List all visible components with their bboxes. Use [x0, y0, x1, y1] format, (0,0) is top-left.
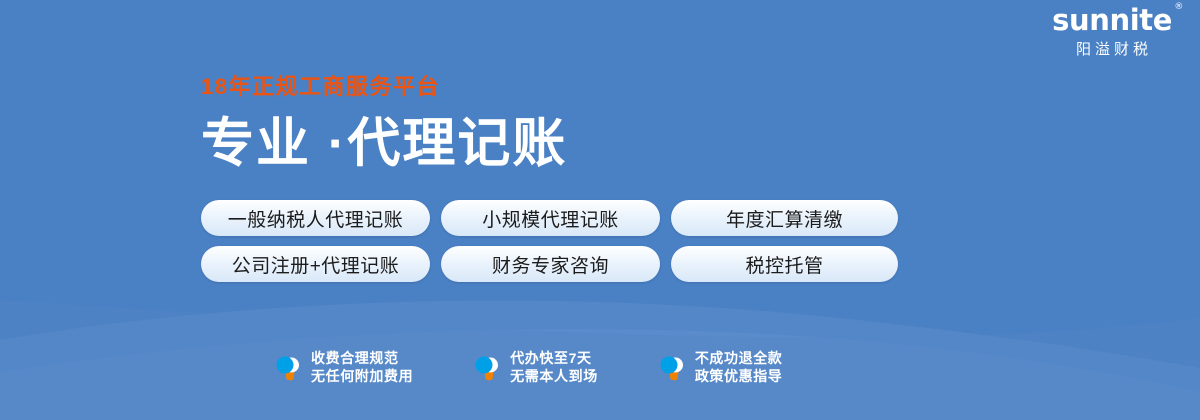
feature-line-2: 无任何附加费用: [311, 368, 413, 386]
feature-item: 代办快至7天 无需本人到场: [473, 350, 598, 386]
feature-line-1: 收费合理规范: [311, 350, 413, 368]
brand-logo: sunnite ® 阳溢财税: [1052, 6, 1172, 57]
service-tag[interactable]: 税控托管: [671, 246, 898, 282]
hero-headline: 18年正规工商服务平台 专业 ·代理记账: [201, 76, 567, 170]
logo-wordmark: sunnite ®: [1052, 6, 1172, 35]
feature-line-1: 代办快至7天: [510, 350, 598, 368]
service-tag-list: 一般纳税人代理记账 小规模代理记账 年度汇算清缴 公司注册+代理记账 财务专家咨…: [201, 200, 898, 282]
service-tag[interactable]: 财务专家咨询: [441, 246, 660, 282]
page-title: 专业 ·代理记账: [201, 117, 567, 170]
service-tag[interactable]: 年度汇算清缴: [671, 200, 898, 236]
registered-trademark-icon: ®: [1174, 3, 1183, 12]
feature-line-2: 政策优惠指导: [695, 368, 783, 386]
service-tag[interactable]: 一般纳税人代理记账: [201, 200, 430, 236]
promo-banner: sunnite ® 阳溢财税 18年正规工商服务平台 专业 ·代理记账 一般纳税…: [0, 0, 1200, 420]
circle-duo-icon: [473, 353, 501, 383]
service-tag[interactable]: 小规模代理记账: [441, 200, 660, 236]
feature-strip: 收费合理规范 无任何附加费用 代办快至7天 无需本人到场 不成功退全款: [274, 350, 782, 386]
feature-line-2: 无需本人到场: [510, 368, 598, 386]
feature-item: 收费合理规范 无任何附加费用: [274, 350, 413, 386]
hero-eyebrow: 18年正规工商服务平台: [201, 76, 567, 98]
feature-line-1: 不成功退全款: [695, 350, 783, 368]
feature-text: 收费合理规范 无任何附加费用: [311, 350, 413, 386]
feature-text: 不成功退全款 政策优惠指导: [695, 350, 783, 386]
feature-item: 不成功退全款 政策优惠指导: [658, 350, 783, 386]
circle-duo-icon: [274, 353, 302, 383]
feature-text: 代办快至7天 无需本人到场: [510, 350, 598, 386]
service-tag[interactable]: 公司注册+代理记账: [201, 246, 430, 282]
logo-chinese-name: 阳溢财税: [1052, 42, 1172, 57]
logo-wordmark-text: sunnite: [1052, 3, 1172, 37]
circle-duo-icon: [658, 353, 686, 383]
